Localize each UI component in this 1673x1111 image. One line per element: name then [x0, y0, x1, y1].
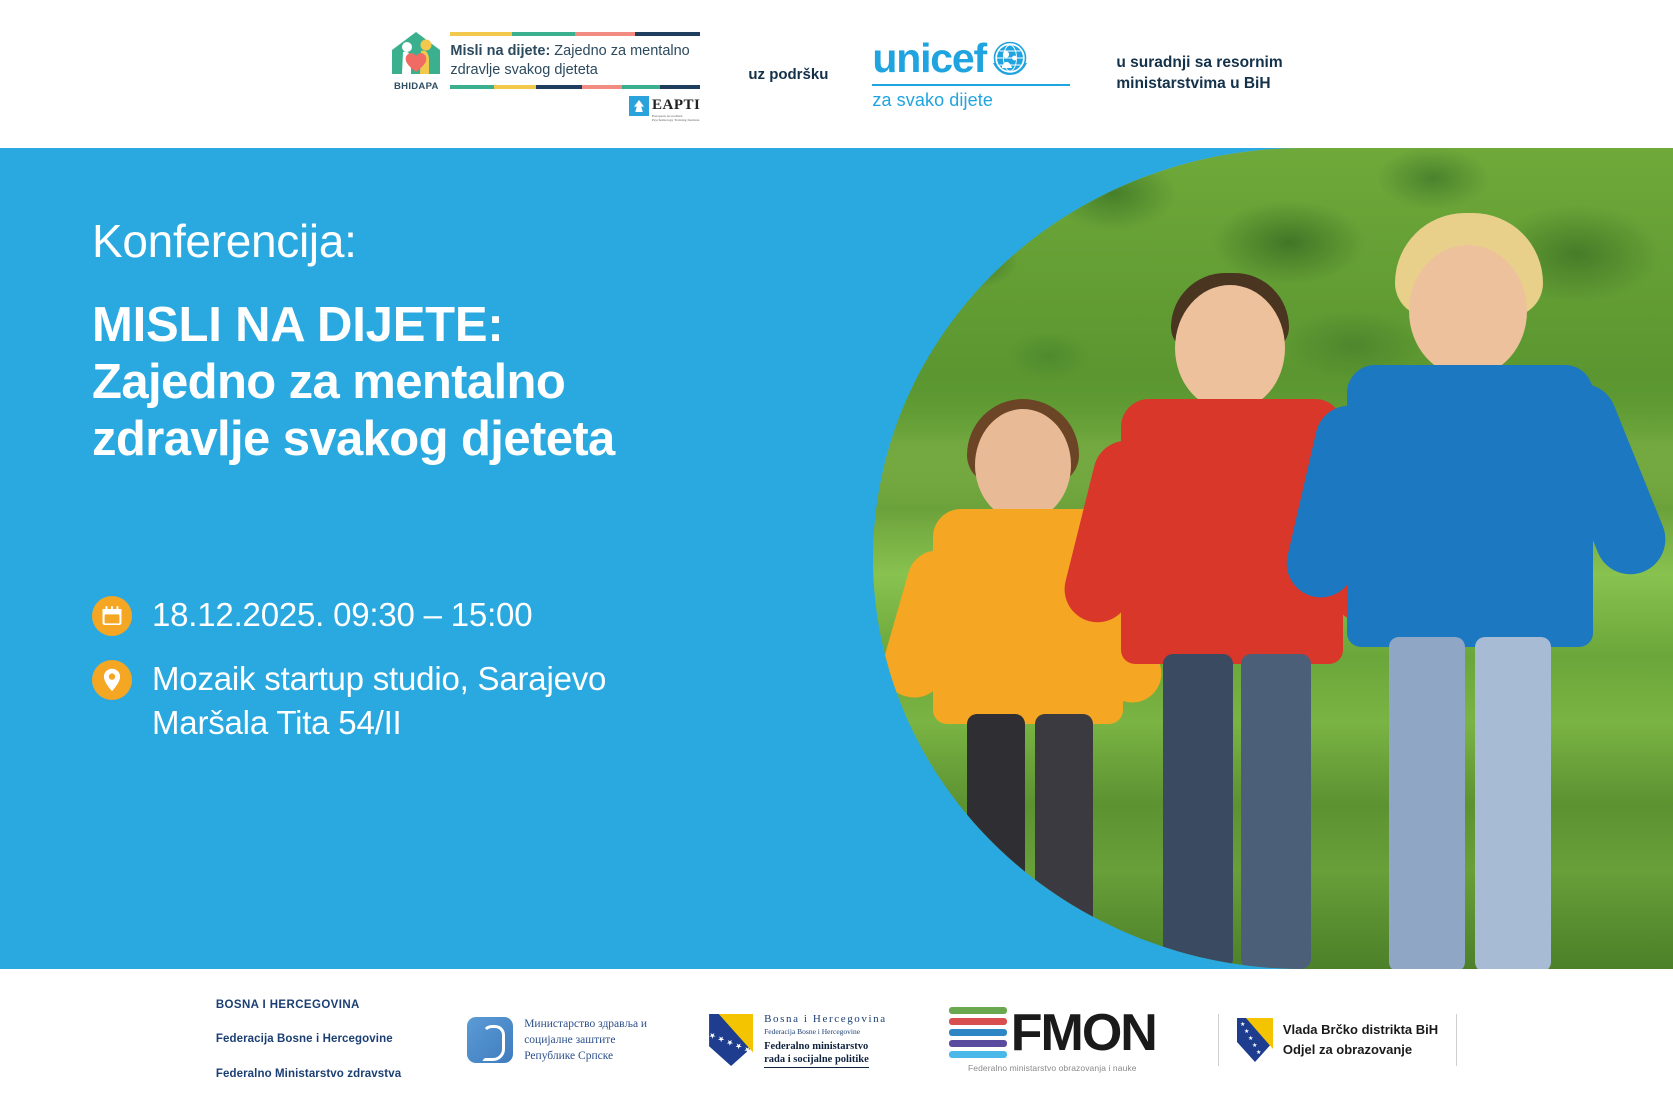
logo-rs-ministarstvo-zdravlja: Министарство здравља и социјалне заштите…	[467, 1016, 647, 1065]
calendar-icon	[92, 596, 132, 636]
fmon-bars-icon	[949, 1007, 1007, 1058]
event-title: MISLI NA DIJETE: Zajedno za mentalno zdr…	[92, 297, 832, 469]
eapti-logo: EAPTI European Accredited Psychotherapy …	[450, 96, 700, 118]
event-details: 18.12.2025. 09:30 – 15:00 Mozaik startup…	[92, 593, 606, 765]
bhidapa-house-icon: BHIDAPA	[390, 30, 442, 92]
event-title-line-2: Zajedno za mentalno	[92, 354, 832, 411]
unicef-tagline: za svako dijete	[872, 90, 1070, 111]
bhidapa-logo: BHIDAPA Misli na dijete: Zajedno za ment…	[390, 30, 700, 118]
bhidapa-rule-top	[450, 32, 700, 36]
unicef-logo: unicef	[872, 37, 1070, 111]
svg-text:★: ★	[1252, 1042, 1257, 1049]
event-datetime-row: 18.12.2025. 09:30 – 15:00	[92, 593, 606, 637]
support-label: uz podršku	[748, 66, 828, 83]
unicef-emblem-icon	[989, 37, 1031, 79]
fbih-rada-line-2: Federacija Bosne i Hercegovine	[764, 1027, 887, 1037]
svg-text:★: ★	[1248, 1035, 1253, 1042]
fbih-rada-line-3: Federalno ministarstvo rada i socijalne …	[764, 1040, 869, 1068]
event-location: Mozaik startup studio, Sarajevo Maršala …	[152, 657, 606, 745]
bhidapa-rule-bottom	[450, 85, 700, 89]
child-blue-shirt	[1325, 229, 1625, 969]
partners-note: u suradnji sa resornim ministarstvima u …	[1116, 53, 1282, 95]
bhidapa-wordmark: BHIDAPA	[390, 81, 442, 92]
bih-coat-of-arms-icon: ★ ★ ★ ★ ★	[709, 1014, 753, 1066]
logo-fmon: FMON Federalno ministarstvo obrazovanja …	[949, 1007, 1156, 1073]
fbih-rada-line-1: Bosna i Hercegovina	[764, 1012, 887, 1027]
logo-fbih-ministarstvo-zdravstva: BOSNA I HERCEGOVINA Federacija Bosne i H…	[216, 980, 401, 1101]
rs-ministry-emblem-icon	[467, 1017, 513, 1063]
brcko-coat-of-arms-icon: ★ ★ ★ ★ ★	[1237, 1018, 1273, 1062]
eapti-subtitle: European Accredited Psychotherapy Traini…	[652, 114, 700, 122]
event-title-line-1: MISLI NA DIJETE:	[92, 297, 832, 354]
fmon-wordmark: FMON	[1011, 1009, 1156, 1057]
fmon-subtitle: Federalno ministarstvo obrazovanja i nau…	[949, 1063, 1156, 1073]
fbih-zdravstvo-text: BOSNA I HERCEGOVINA Federacija Bosne i H…	[216, 980, 401, 1101]
eapti-emblem-icon	[629, 96, 649, 116]
event-kicker: Konferencija:	[92, 216, 832, 267]
svg-text:★: ★	[1244, 1028, 1249, 1035]
brcko-text: Vlada Brčko distrikta BiH Odjel za obraz…	[1283, 1020, 1438, 1060]
eapti-wordmark: EAPTI	[652, 97, 700, 113]
svg-text:★: ★	[1240, 1021, 1245, 1028]
unicef-wordmark: unicef	[872, 38, 986, 79]
fbih-zdravstvo-line-2: Federacija Bosne i Hercegovine	[216, 1031, 401, 1048]
event-title-line-3: zdravlje svakog djeteta	[92, 411, 832, 468]
event-datetime: 18.12.2025. 09:30 – 15:00	[152, 593, 532, 637]
footer-logo-bar: BOSNA I HERCEGOVINA Federacija Bosne i H…	[0, 969, 1673, 1111]
hero-banner: Konferencija: MISLI NA DIJETE: Zajedno z…	[0, 148, 1673, 969]
location-pin-icon	[92, 660, 132, 700]
svg-text:★: ★	[1256, 1049, 1261, 1056]
brcko-divider	[1456, 1014, 1457, 1066]
bhidapa-tagline-bold: Misli na dijete:	[450, 43, 550, 59]
header-partner-bar: BHIDAPA Misli na dijete: Zajedno za ment…	[0, 0, 1673, 148]
bhidapa-tagline: Misli na dijete: Zajedno za mentalno zdr…	[450, 42, 700, 79]
hero-photo	[873, 148, 1673, 969]
fbih-zdravstvo-line-1: BOSNA I HERCEGOVINA	[216, 997, 401, 1014]
event-location-row: Mozaik startup studio, Sarajevo Maršala …	[92, 657, 606, 745]
fbih-zdravstvo-line-3: Federalno Ministarstvo zdravstva	[216, 1066, 401, 1083]
logo-fbih-ministarstvo-rada: ★ ★ ★ ★ ★ Bosna i Hercegovina Federacija…	[709, 1012, 887, 1069]
unicef-divider	[872, 84, 1070, 86]
rs-ministarstvo-text: Министарство здравља и социјалне заштите…	[524, 1016, 647, 1065]
logo-vlada-brcko: ★ ★ ★ ★ ★ Vlada Brčko distrikta BiH Odje…	[1218, 1014, 1457, 1066]
